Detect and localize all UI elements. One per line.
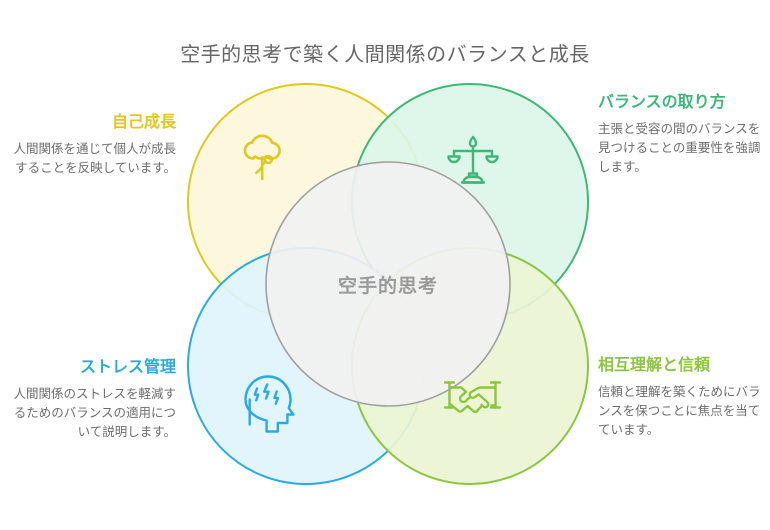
quadrant-trust[interactable]: 相互理解と信頼 信頼と理解を築くためにバランスを保つことに焦点を当てています。 [598, 355, 766, 440]
quadrant-self-growth[interactable]: 自己成長 人間関係を通じて個人が成長することを反映しています。 [8, 112, 176, 178]
quadrant-body-self-growth: 人間関係を通じて個人が成長することを反映しています。 [8, 140, 176, 178]
infographic-canvas: 空手的思考で築く人間関係のバランスと成長 [0, 0, 770, 530]
quadrant-heading-trust: 相互理解と信頼 [598, 355, 766, 376]
quadrant-heading-stress: ストレス管理 [8, 357, 176, 378]
quadrant-stress[interactable]: ストレス管理 人間関係のストレスを軽減するためのバランスの適用について説明します… [8, 357, 176, 442]
quadrant-heading-self-growth: 自己成長 [8, 112, 176, 133]
venn-circle-center[interactable] [266, 162, 510, 406]
quadrant-body-trust: 信頼と理解を築くためにバランスを保つことに焦点を当てています。 [598, 383, 766, 440]
quadrant-body-balance: 主張と受容の間のバランスを見つけることの重要性を強調します。 [598, 120, 766, 177]
quadrant-body-stress: 人間関係のストレスを軽減するためのバランスの適用について説明します。 [8, 385, 176, 442]
venn-diagram [186, 82, 590, 486]
quadrant-balance[interactable]: バランスの取り方 主張と受容の間のバランスを見つけることの重要性を強調します。 [598, 92, 766, 177]
quadrant-heading-balance: バランスの取り方 [598, 92, 766, 113]
page-title: 空手的思考で築く人間関係のバランスと成長 [0, 42, 770, 68]
